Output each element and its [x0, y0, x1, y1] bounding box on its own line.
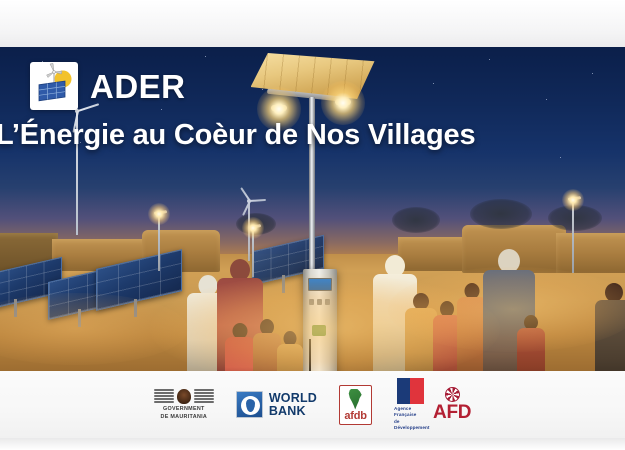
- text-overlay: ADER L’Énergie au Coèur de Nos Villages: [0, 47, 625, 371]
- world-bank-label: WORLD BANK: [269, 392, 317, 417]
- globe-shape: [241, 396, 260, 415]
- afd-label: AFD: [433, 403, 471, 422]
- afd-agency-line2: de Développement: [394, 419, 426, 432]
- banner-root: ADER L’Énergie au Coèur de Nos Villages …: [0, 0, 625, 450]
- crest-seal: [177, 389, 191, 404]
- afdb-logo-box: afdb: [339, 385, 372, 425]
- french-flag-icon: [397, 378, 424, 404]
- bottom-white-strip: [0, 438, 625, 450]
- crest-text-lines-right: [194, 389, 214, 403]
- partner-logo-afdb[interactable]: afdb: [339, 385, 372, 425]
- afdb-label: afdb: [344, 411, 366, 422]
- partner-logo-world-bank[interactable]: WORLD BANK: [236, 391, 317, 418]
- partner-logo-mauritania[interactable]: GOVERNMENT DE MAURITANIA: [154, 388, 214, 421]
- crest-text-lines-left: [154, 389, 174, 403]
- afd-swirl-icon: [445, 387, 460, 402]
- brand-name: ADER: [90, 70, 186, 103]
- partner-logo-bar: GOVERNMENT DE MAURITANIA WORLD BANK afdb: [0, 371, 625, 438]
- mauritania-label: GOVERNMENT DE MAURITANIA: [161, 406, 208, 421]
- world-bank-label-line1: WORLD: [269, 392, 317, 405]
- afd-agency-label: Agence Française de Développement: [394, 406, 426, 432]
- world-bank-label-line2: BANK: [269, 405, 317, 418]
- hero-photo: ADER L’Énergie au Coèur de Nos Villages: [0, 47, 625, 371]
- page-title: L’Énergie au Coèur de Nos Villages: [0, 119, 621, 152]
- afd-agency-line1: Agence Française: [394, 406, 426, 419]
- africa-map-icon: [347, 389, 364, 410]
- ader-logo-icon: [30, 62, 78, 110]
- partner-logo-afd[interactable]: Agence Française de Développement AFD: [394, 378, 471, 432]
- french-republic-mark: Agence Française de Développement: [394, 378, 426, 432]
- mauritania-label-line1: GOVERNMENT: [161, 406, 208, 413]
- mauritania-label-line2: DE MAURITANIA: [161, 414, 208, 421]
- mauritania-crest-icon: [154, 388, 214, 404]
- top-white-strip: [0, 0, 625, 47]
- brand-lockup: ADER: [30, 62, 186, 110]
- world-bank-globe-icon: [236, 391, 263, 418]
- afd-brand-mark: AFD: [433, 387, 471, 422]
